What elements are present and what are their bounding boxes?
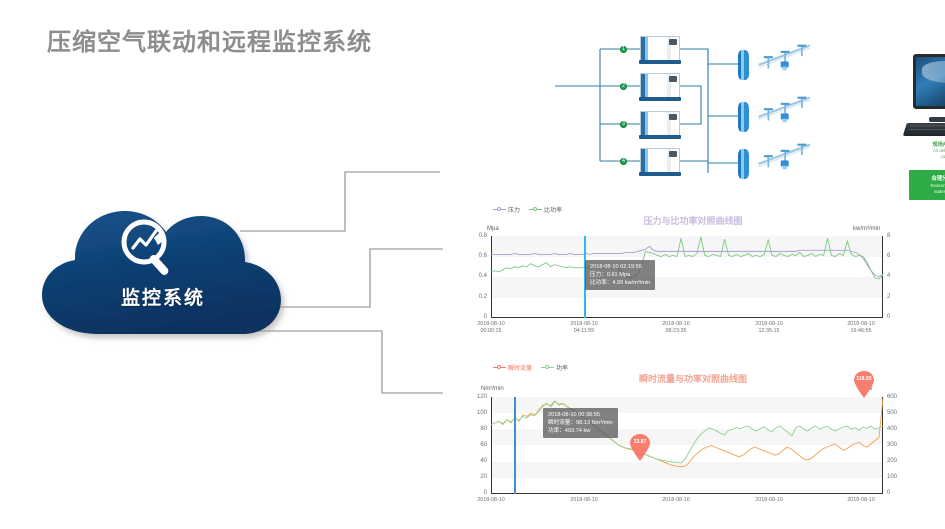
compressor-base	[639, 60, 681, 64]
chart1-y2tick: 8	[887, 233, 909, 239]
chart1-xtick: 2018-08-10 12:35:15	[742, 321, 796, 335]
compressor-unit[interactable]	[640, 71, 680, 101]
tooltip-line1: 瞬时流量：98.13 Nm³/min	[548, 419, 613, 427]
chart2-xtick: 2018-08-10	[834, 497, 888, 504]
xtick-time: 08:23:35	[666, 328, 687, 334]
legend-item-pressure[interactable]: 压力	[493, 205, 520, 214]
legend-label: 压力	[508, 205, 520, 214]
chart1-y2tick: 6	[887, 253, 909, 259]
chart1-ytick: 0.2	[465, 294, 487, 300]
chart1-ytick: 0.6	[465, 253, 487, 259]
chart1-ytick: 0.4	[465, 273, 487, 279]
topology-wiring	[443, 18, 943, 208]
chart2-ytick: 120	[465, 394, 487, 400]
chart2-xtick: 2018-08-10	[557, 497, 611, 504]
chart2-ytick: 40	[465, 458, 487, 464]
chart1-y2tick: 0	[887, 314, 909, 320]
legend-label: 瞬时流量	[508, 363, 532, 372]
chart1-y-unit: Mpa	[487, 226, 499, 232]
pipe-rack	[753, 141, 819, 171]
xtick-date: 2018-08-10	[662, 321, 690, 327]
chart2-cursor-line[interactable]	[514, 397, 516, 494]
chart2-tooltip: 2018-08-10 00:38:55 瞬时流量：98.13 Nm³/min 功…	[543, 408, 618, 438]
legend-item-power[interactable]: 功率	[541, 363, 568, 372]
air-tank	[738, 149, 749, 179]
pipe-rack	[753, 94, 819, 124]
chart1-xtick: 2018-08-10 00:00:15	[464, 321, 518, 335]
node-indicator[interactable]: 3	[620, 121, 627, 128]
system-topology-panel[interactable]: 现场用气量反馈主控中心 Air delivery feedback of mai…	[443, 18, 943, 208]
compressor-panel	[669, 39, 677, 45]
chart2-legend[interactable]: 瞬时流量 功率	[493, 363, 568, 372]
legend-marker-icon	[541, 364, 554, 371]
chart2-ytick: 80	[465, 426, 487, 432]
chart2-y-unit: Nm³/min	[481, 386, 504, 392]
compressor-unit[interactable]	[640, 34, 680, 64]
cloud-label: 监控系统	[38, 283, 288, 310]
chart1-xtick: 2018-08-10 16:46:55	[834, 321, 888, 335]
slide-root: 压缩空气联动和远程监控系统 监控系统	[0, 0, 945, 529]
chart2-ytick: 20	[465, 474, 487, 480]
chart2-y2tick: 0	[887, 490, 909, 496]
chart1-y2tick: 2	[887, 294, 909, 300]
tooltip-line1: 压力：0.61 Mpa	[590, 271, 650, 279]
chart1-xtick: 2018-08-10 04:11:55	[557, 321, 611, 335]
magnifier-chart-icon	[118, 218, 184, 280]
xtick-date: 2018-08-10	[847, 321, 875, 327]
chart1-tooltip: 2018-08-10 02:19:55 压力：0.61 Mpa 比功率：4.99…	[585, 260, 655, 290]
chart1-y2-unit: kw/m³/min	[853, 226, 880, 232]
pipe-rack	[753, 42, 819, 72]
chart2-ytick: 0	[465, 490, 487, 496]
node-indicator[interactable]: 4	[620, 158, 627, 165]
node-indicator[interactable]: 2	[620, 83, 627, 90]
compressor-base	[639, 135, 681, 139]
legend-marker-icon	[529, 206, 542, 213]
chart2-y2tick: 200	[887, 458, 909, 464]
min-value-label: 33.87	[630, 439, 650, 445]
xtick-time: 04:11:55	[574, 328, 595, 334]
compressor-panel	[669, 76, 677, 82]
compressor-panel	[669, 114, 677, 120]
legend-item-flow[interactable]: 瞬时流量	[493, 363, 532, 372]
compressor-unit[interactable]	[640, 146, 680, 176]
chart2-y2tick: 300	[887, 442, 909, 448]
legend-marker-icon	[493, 364, 506, 371]
chart2-y2tick: 400	[887, 426, 909, 432]
chart2-y2tick: 600	[887, 394, 909, 400]
chart2-xtick: 2018-08-10	[649, 497, 703, 504]
xtick-time: 16:46:55	[851, 328, 872, 334]
max-value-label: 118.55	[854, 376, 874, 382]
node-indicator[interactable]: 1	[620, 46, 627, 53]
tooltip-line2: 比功率：4.99 kw/m³/min	[590, 279, 650, 287]
xtick-date: 2018-08-10	[570, 321, 598, 327]
legend-label: 比功率	[544, 205, 562, 214]
legend-marker-icon	[493, 206, 506, 213]
flow-power-chart-panel[interactable]: 瞬时流量 功率 瞬时流量与功率对照曲线图 Nm³/min kw 0 20 40 …	[443, 358, 943, 529]
chart2-xtick: 2018-08-10	[742, 497, 796, 504]
xtick-date: 2018-08-10	[755, 321, 783, 327]
chart2-xtick: 2018-08-10	[464, 497, 518, 504]
pressure-chart-panel[interactable]: 压力 比功率 压力与比功率对照曲线图 Mpa kw/m³/min 0 0.2 0…	[443, 200, 943, 340]
compressor-base	[639, 172, 681, 176]
compressor-unit[interactable]	[640, 109, 680, 139]
chart1-y2tick: 4	[887, 273, 909, 279]
chart1-legend[interactable]: 压力 比功率	[493, 205, 562, 214]
legend-label: 功率	[556, 363, 568, 372]
chart1-ytick: 0	[465, 314, 487, 320]
compressor-base	[639, 97, 681, 101]
air-tank	[738, 50, 749, 80]
xtick-time: 12:35:15	[759, 328, 780, 334]
chart2-y2tick: 500	[887, 410, 909, 416]
compressor-panel	[669, 151, 677, 157]
chart2-ytick: 60	[465, 442, 487, 448]
tooltip-time: 2018-08-10 00:38:55	[548, 411, 613, 419]
air-tank	[738, 102, 749, 132]
tooltip-time: 2018-08-10 02:19:55	[590, 263, 650, 271]
chart1-xtick: 2018-08-10 08:23:35	[649, 321, 703, 335]
xtick-date: 2018-08-10	[477, 321, 505, 327]
chart1-plot-area[interactable]	[491, 236, 883, 318]
chart1-series-lines	[491, 236, 883, 318]
xtick-time: 00:00:15	[481, 328, 502, 334]
page-title: 压缩空气联动和远程监控系统	[47, 22, 372, 57]
chart2-y2tick: 100	[887, 474, 909, 480]
chart2-ytick: 100	[465, 410, 487, 416]
legend-item-specific-power[interactable]: 比功率	[529, 205, 562, 214]
chart1-ytick: 0.8	[465, 233, 487, 239]
tooltip-line2: 功率：493.74 kw	[548, 427, 613, 435]
